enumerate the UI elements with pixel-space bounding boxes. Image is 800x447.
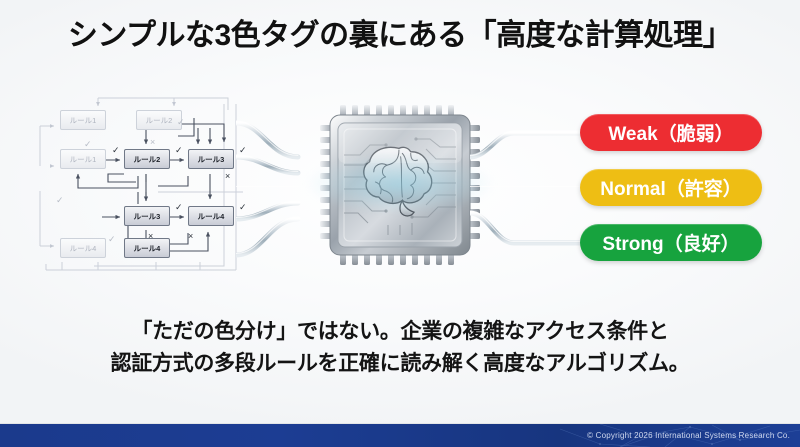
subtitle-line-1: 「ただの色分け」ではない。企業の複雑なアクセス条件と	[0, 316, 800, 348]
cross-icon: ×	[150, 138, 155, 147]
rule-flowchart: ルール1ルール2ルール1ルール2ルール3ルール3ルール4ルール4ルール4 ✓✓×…	[38, 96, 243, 276]
check-icon: ✓	[175, 203, 183, 212]
footer-bar: © Copyright 2026 International Systems R…	[0, 424, 800, 447]
check-icon: ✓	[175, 146, 183, 155]
status-badge-weak[interactable]: Weak（脆弱）	[580, 114, 762, 151]
check-icon: ✓	[177, 118, 185, 127]
status-badge-strong[interactable]: Strong（良好）	[580, 224, 762, 261]
badge-label: Normal（許容）	[600, 174, 741, 201]
check-icon: ✓	[84, 140, 92, 149]
page-title: シンプルな3色タグの裏にある「高度な計算処理」	[0, 10, 800, 54]
status-badge-normal[interactable]: Normal（許容）	[580, 169, 762, 206]
cross-icon: ×	[188, 232, 193, 241]
copyright-text: © Copyright 2026 International Systems R…	[587, 424, 790, 447]
check-icon: ✓	[108, 235, 116, 244]
check-icon: ✓	[56, 196, 64, 205]
badge-label: Strong（良好）	[602, 229, 739, 256]
output-cables	[470, 95, 595, 280]
subtitle-block: 「ただの色分け」ではない。企業の複雑なアクセス条件と 認証方式の多段ルールを正確…	[0, 316, 800, 379]
cross-icon: ×	[148, 232, 153, 241]
slide-root: シンプルな3色タグの裏にある「高度な計算処理」	[0, 0, 800, 447]
subtitle-line-2: 認証方式の多段ルールを正確に読み解く高度なアルゴリズム。	[0, 348, 800, 380]
check-icon: ✓	[112, 146, 120, 155]
badge-label: Weak（脆弱）	[608, 119, 733, 146]
cross-icon: ×	[225, 172, 230, 181]
